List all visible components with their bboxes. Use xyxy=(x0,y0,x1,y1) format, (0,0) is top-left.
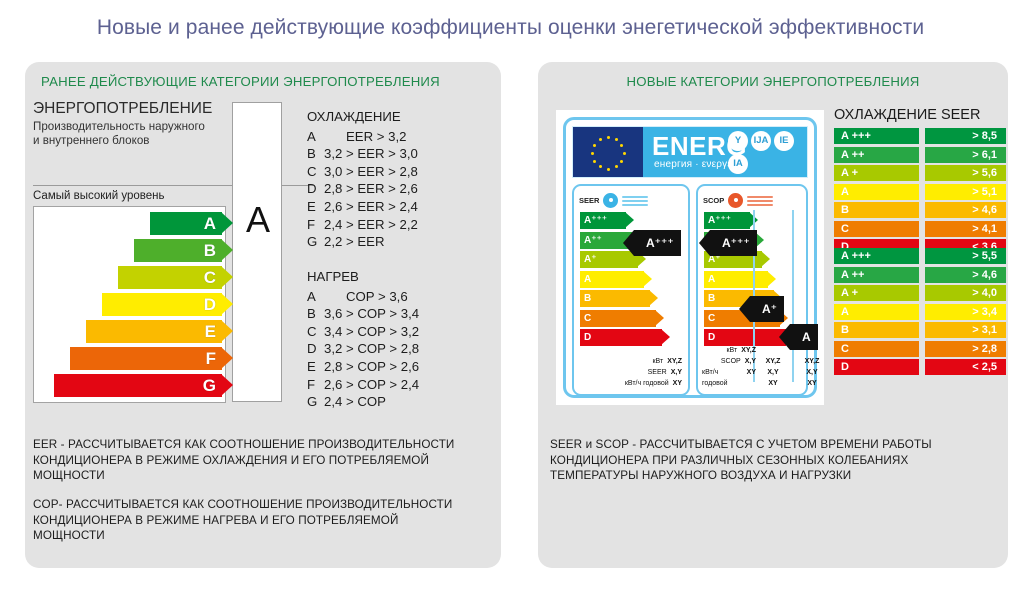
table-grade: A +++ xyxy=(834,248,919,264)
label-scale-arrow: D xyxy=(704,329,788,346)
label-scale-grade: B xyxy=(584,290,591,307)
table-row: C> 4,1 xyxy=(834,221,1006,237)
note-eer: EER - РАССЧИТЫВАЕТСЯ КАК СООТНОШЕНИЕ ПРО… xyxy=(33,437,463,484)
table-row: A +> 4,0 xyxy=(834,285,1006,301)
seer-footer-values: кВтXY,ZSEERX,YкВт/ч годовойXY xyxy=(625,356,682,389)
label-scop-section: SCOP A⁺⁺⁺A⁺⁺A⁺ABCD A⁺⁺⁺A⁺A кВтXY,ZSCOPX,… xyxy=(696,184,808,396)
footer-value: XY,Z xyxy=(667,356,682,367)
top-level-label: Самый высокий уровень xyxy=(33,190,164,202)
table-grade: A ++ xyxy=(834,267,919,283)
scale-arrow-grade: E xyxy=(205,320,216,343)
energy-scale-arrows: ABCDEFG xyxy=(39,212,222,401)
scop-rating-marker: A⁺ xyxy=(750,296,784,322)
table-grade: A xyxy=(834,184,919,200)
table-row: F2,4 > EER > 2,2 xyxy=(307,216,418,234)
label-scale-arrow: A⁺⁺⁺ xyxy=(704,212,788,229)
row-grade: A xyxy=(307,288,324,306)
zone-value: XY,Z xyxy=(755,356,791,367)
zone-value: XY,Z xyxy=(794,356,830,367)
table-grade: B xyxy=(834,202,919,218)
language-badge: Y xyxy=(728,131,748,151)
table-value: > 3,1 xyxy=(925,322,1006,338)
scale-arrow-grade: D xyxy=(204,293,216,316)
scop-rating-marker: A xyxy=(790,324,818,350)
table-row: E2,8 > COP > 2,6 xyxy=(307,358,419,376)
table-row: G2,2 > EER xyxy=(307,233,418,251)
panel-previous-header: РАНЕЕ ДЕЙСТВУЮЩИЕ КАТЕГОРИИ ЭНЕРГОПОТРЕБ… xyxy=(41,74,440,89)
eu-star-icon xyxy=(599,165,602,168)
table-value: > 2,8 xyxy=(925,341,1006,357)
table-row: C3,0 > EER > 2,8 xyxy=(307,163,418,181)
table-value: > 5,5 xyxy=(925,248,1006,264)
table-grade: C xyxy=(834,221,919,237)
table-row: A> 3,4 xyxy=(834,304,1006,320)
scale-arrow-grade: F xyxy=(206,347,216,370)
footer-label: SEER xyxy=(648,367,667,378)
table-row: A COP > 3,6 xyxy=(307,288,419,306)
airflow-heat-icon xyxy=(747,193,773,207)
row-value: 2,2 > EER xyxy=(324,233,384,251)
table-value: > 5,1 xyxy=(925,184,1006,200)
table-row: G2,4 > COP xyxy=(307,393,419,411)
seer-table-title: ОХЛАЖДЕНИЕ SEER xyxy=(834,107,980,123)
eu-star-icon xyxy=(593,160,596,163)
language-badge: IE xyxy=(774,131,794,151)
label-scale-grade: C xyxy=(708,310,715,327)
row-grade: E xyxy=(307,358,324,376)
language-badge: IA xyxy=(728,154,748,174)
table-row: D3,2 > COP > 2,8 xyxy=(307,340,419,358)
zone-column-2: XY,ZX,YXY xyxy=(794,356,830,389)
heating-title: НАГРЕВ xyxy=(307,268,419,286)
table-row: A EER > 3,2 xyxy=(307,128,418,146)
heating-list: НАГРЕВ A COP > 3,6B3,6 > COP > 3,4C3,4 >… xyxy=(307,268,419,411)
row-value: 2,6 > COP > 2,4 xyxy=(324,376,419,394)
zone-column-1: XY,ZX,YXY xyxy=(755,356,791,389)
label-footer-row: SCOPX,Y xyxy=(702,356,756,367)
table-row: D< 2,5 xyxy=(834,359,1006,375)
table-value: > 5,6 xyxy=(925,165,1006,181)
table-value: > 8,5 xyxy=(925,128,1006,144)
consumption-title: ЭНЕРГОПОТРЕБЛЕНИЕ xyxy=(33,100,212,118)
scale-arrow-grade: G xyxy=(203,374,216,397)
row-grade: D xyxy=(307,180,324,198)
eu-star-icon xyxy=(599,138,602,141)
label-scale-arrow: A⁺⁺⁺ xyxy=(580,212,664,229)
cooling-list: ОХЛАЖДЕНИЕ A EER > 3,2B3,2 > EER > 3,0C3… xyxy=(307,108,418,251)
scale-arrow: B xyxy=(39,239,222,262)
table-value: > 4,0 xyxy=(925,285,1006,301)
footer-label: SCOP xyxy=(721,356,741,367)
table-grade: D xyxy=(834,359,919,375)
row-grade: D xyxy=(307,340,324,358)
eu-flag-icon xyxy=(573,127,643,177)
label-scale-arrow: B xyxy=(580,290,664,307)
table-value: > 6,1 xyxy=(925,147,1006,163)
table-grade: A + xyxy=(834,285,919,301)
eu-star-icon xyxy=(615,165,618,168)
consumption-subtitle: Производительность наружного и внутренне… xyxy=(33,120,208,149)
airflow-cool-icon xyxy=(622,193,648,207)
table-row: C> 2,8 xyxy=(834,341,1006,357)
table-value: > 4,6 xyxy=(925,267,1006,283)
table-row: B3,2 > EER > 3,0 xyxy=(307,145,418,163)
scale-arrow: F xyxy=(39,347,222,370)
eu-star-icon xyxy=(620,144,623,147)
row-grade: E xyxy=(307,198,324,216)
selected-class-box: A xyxy=(232,102,282,402)
label-footer-row: кВтXY,Z xyxy=(625,356,682,367)
footer-value: XY,Z xyxy=(741,345,756,356)
label-footer-row: кВтXY,Z xyxy=(702,345,756,356)
label-scale-grade: D xyxy=(708,329,715,346)
label-scale-grade: B xyxy=(708,290,715,307)
label-footer-row: кВт/ч годовойXY xyxy=(702,367,756,389)
label-scale-grade: A⁺⁺⁺ xyxy=(584,212,607,229)
energy-label-header: ENERG енергия · ενεργεια YIJAIEIA xyxy=(572,126,808,178)
table-row: A ++> 4,6 xyxy=(834,267,1006,283)
row-value: 2,6 > EER > 2,4 xyxy=(324,198,418,216)
seer-mode-label: SEER xyxy=(579,196,599,205)
row-value: 3,2 > COP > 2,8 xyxy=(324,340,419,358)
panel-new-header: НОВЫЕ КАТЕГОРИИ ЭНЕРГОПОТРЕБЛЕНИЯ xyxy=(538,74,1008,89)
footer-label: кВт/ч годовой xyxy=(702,367,743,389)
label-footer-row: кВт/ч годовойXY xyxy=(625,378,682,389)
row-grade: B xyxy=(307,305,324,323)
row-value: 3,0 > EER > 2,8 xyxy=(324,163,418,181)
language-badges: YIJAIEIA xyxy=(728,131,802,174)
scale-arrow: E xyxy=(39,320,222,343)
eu-star-icon xyxy=(620,160,623,163)
energy-scale-chart: ABCDEFG xyxy=(33,206,226,403)
row-grade: A xyxy=(307,128,324,146)
scop-footer-values: кВтXY,ZSCOPX,YкВт/ч годовойXY xyxy=(702,345,756,389)
table-row: A ++> 6,1 xyxy=(834,147,1006,163)
eu-star-icon xyxy=(615,138,618,141)
table-grade: A xyxy=(834,304,919,320)
label-seer-section: SEER A⁺⁺⁺A⁺⁺A⁺ABCD A⁺⁺⁺ кВтXY,ZSEERX,YкВ… xyxy=(572,184,690,396)
scop-table: A +++> 5,5A ++> 4,6A +> 4,0A> 3,4B> 3,1C… xyxy=(834,248,1006,378)
fan-cool-icon xyxy=(603,193,618,208)
table-grade: A +++ xyxy=(834,128,919,144)
row-value: 2,4 > COP xyxy=(324,393,386,411)
scale-arrow-grade: A xyxy=(204,212,216,235)
table-value: > 4,1 xyxy=(925,221,1006,237)
label-footer-row: SEERX,Y xyxy=(625,367,682,378)
table-row: C3,4 > COP > 3,2 xyxy=(307,323,419,341)
row-grade: B xyxy=(307,145,324,163)
eu-star-icon xyxy=(607,168,610,171)
table-row: E2,6 > EER > 2,4 xyxy=(307,198,418,216)
label-scale-grade: A⁺⁺ xyxy=(584,232,602,249)
scop-rating-marker: A⁺⁺⁺ xyxy=(710,230,757,256)
table-value: > 3,4 xyxy=(925,304,1006,320)
table-row: B> 4,6 xyxy=(834,202,1006,218)
selected-class-letter: A xyxy=(233,202,283,238)
footer-label: кВт xyxy=(652,356,663,367)
row-grade: F xyxy=(307,216,324,234)
row-value: EER > 3,2 xyxy=(324,128,406,146)
energy-label-graphic: ENERG енергия · ενεργεια YIJAIEIA SEER A… xyxy=(556,110,824,405)
zone-value: X,Y xyxy=(794,367,830,378)
zone-value: X,Y xyxy=(755,367,791,378)
eu-star-icon xyxy=(591,152,594,155)
row-value: 2,4 > EER > 2,2 xyxy=(324,216,418,234)
row-value: 3,6 > COP > 3,4 xyxy=(324,305,419,323)
row-value: 3,4 > COP > 3,2 xyxy=(324,323,419,341)
seer-table: A +++> 8,5A ++> 6,1A +> 5,6A> 5,1B> 4,6C… xyxy=(834,128,1006,258)
table-row: B> 3,1 xyxy=(834,322,1006,338)
footer-value: X,Y xyxy=(671,367,682,378)
table-value: > 4,6 xyxy=(925,202,1006,218)
table-grade: B xyxy=(834,322,919,338)
scale-arrow: G xyxy=(39,374,222,397)
footer-label: кВт xyxy=(726,345,737,356)
language-badge: IJA xyxy=(751,131,771,151)
scale-arrow: C xyxy=(39,266,222,289)
eu-star-icon xyxy=(623,152,626,155)
row-value: 2,8 > COP > 2,6 xyxy=(324,358,419,376)
table-row: A> 5,1 xyxy=(834,184,1006,200)
table-value: < 2,5 xyxy=(925,359,1006,375)
scale-arrow: A xyxy=(39,212,222,235)
scop-mode-label: SCOP xyxy=(703,196,724,205)
fan-heat-icon xyxy=(728,193,743,208)
row-grade: F xyxy=(307,376,324,394)
label-scale-arrow: D xyxy=(580,329,664,346)
row-grade: G xyxy=(307,233,324,251)
eu-star-icon xyxy=(607,136,610,139)
table-row: D2,8 > EER > 2,6 xyxy=(307,180,418,198)
seer-rating-marker: A⁺⁺⁺ xyxy=(634,230,681,256)
label-scale-grade: A xyxy=(584,271,591,288)
label-scale-grade: C xyxy=(584,310,591,327)
table-row: F2,6 > COP > 2,4 xyxy=(307,376,419,394)
footer-label: кВт/ч годовой xyxy=(625,378,669,389)
label-scale-arrow: C xyxy=(580,310,664,327)
footer-value: XY xyxy=(673,378,682,389)
table-row: A +++> 8,5 xyxy=(834,128,1006,144)
label-scale-arrow: A xyxy=(704,271,788,288)
table-row: B3,6 > COP > 3,4 xyxy=(307,305,419,323)
eu-star-icon xyxy=(593,144,596,147)
label-scale-grade: A xyxy=(708,271,715,288)
scale-arrow: D xyxy=(39,293,222,316)
row-value: 2,8 > EER > 2,6 xyxy=(324,180,418,198)
row-value: COP > 3,6 xyxy=(324,288,408,306)
page-title: Новые и ранее действующие коэффициенты о… xyxy=(0,16,1021,40)
table-grade: A ++ xyxy=(834,147,919,163)
label-scale-grade: D xyxy=(584,329,591,346)
note-seer-scop: SEER и SCOP - РАССЧИТЫВАЕТСЯ С УЧЕТОМ ВР… xyxy=(550,437,970,484)
label-scale-arrow: A xyxy=(580,271,664,288)
zone-value: XY xyxy=(794,378,830,389)
table-row: A +++> 5,5 xyxy=(834,248,1006,264)
note-cop: COP- РАССЧИТЫВАЕТСЯ КАК СООТНОШЕНИЕ ПРОИ… xyxy=(33,497,463,544)
scale-arrow-grade: C xyxy=(204,266,216,289)
cooling-title: ОХЛАЖДЕНИЕ xyxy=(307,108,418,126)
table-row: A +> 5,6 xyxy=(834,165,1006,181)
zone-value: XY xyxy=(755,378,791,389)
row-value: 3,2 > EER > 3,0 xyxy=(324,145,418,163)
label-scale-grade: A⁺⁺⁺ xyxy=(708,212,731,229)
scale-arrow-grade: B xyxy=(204,239,216,262)
row-grade: C xyxy=(307,323,324,341)
table-grade: C xyxy=(834,341,919,357)
label-scale-grade: A⁺ xyxy=(584,251,597,268)
row-grade: G xyxy=(307,393,324,411)
row-grade: C xyxy=(307,163,324,181)
table-grade: A + xyxy=(834,165,919,181)
